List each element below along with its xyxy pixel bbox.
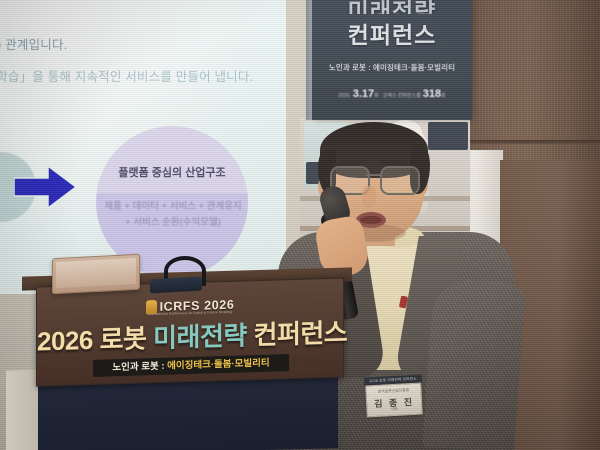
banner-title-line2: 컨퍼런스 bbox=[312, 16, 472, 50]
speaker-mouth-inner bbox=[360, 216, 382, 224]
podium-subtitle-white: 노인과 로봇 : bbox=[112, 361, 167, 374]
banner-venue-suffix: 호 bbox=[441, 93, 446, 99]
right-arrow-icon bbox=[14, 164, 76, 210]
eyeglass-lens-right bbox=[380, 166, 420, 195]
slide-text-line2: AI학습」을 통해 지속적인 서비스를 만들어 냅니다. bbox=[0, 66, 253, 85]
podium-headline-part-0: 2026 로봇 bbox=[37, 323, 153, 356]
banner-meta: 2026. 3.17화 코엑스 컨퍼런스룸 318호 bbox=[312, 88, 472, 100]
tablet-screen[interactable] bbox=[56, 258, 136, 288]
banner-subtitle: 노인과 로봇 : 에이징테크·돌봄·모빌리티 bbox=[312, 62, 472, 73]
podium-sign-board: ICRFS 2026 International Conference on R… bbox=[36, 277, 344, 386]
podium: ICRFS 2026 International Conference on R… bbox=[30, 272, 346, 450]
gooseneck-microphone-base bbox=[150, 277, 202, 294]
slide-circle-sub2: + 서비스 순환(수익모델) bbox=[92, 214, 254, 228]
slide-circle-sub1: 제품 + 데이터 + 서비스 + 관계유지 bbox=[92, 198, 254, 212]
gooseneck-microphone bbox=[150, 262, 204, 292]
banner-venue-label: 코엑스 컨퍼런스룸 bbox=[383, 93, 421, 99]
slide-circle-title: 플랫폼 중심의 산업구조 bbox=[96, 164, 248, 180]
speaker-name-badge: 한국로봇산업진흥원 김 종 진 대표 bbox=[365, 383, 423, 418]
conference-photo: 미래전략 컨퍼런스 노인과 로봇 : 에이징테크·돌봄·모빌리티 2026. 3… bbox=[0, 0, 600, 450]
banner-date-year: 2026. bbox=[338, 93, 351, 99]
podium-headline: 2026 로봇 미래전략 컨퍼런스 bbox=[37, 312, 343, 358]
speaker-nose bbox=[362, 186, 376, 208]
banner-date-day: 3.17 bbox=[353, 88, 374, 100]
speaker-arm-right bbox=[422, 277, 526, 450]
podium-headline-part-1: 미래전략 bbox=[153, 320, 247, 353]
banner-title-line1: 미래전략 bbox=[312, 0, 472, 14]
podium-headline-part-2: 컨퍼런스 bbox=[247, 317, 347, 350]
eyeglass-bridge bbox=[366, 174, 382, 176]
slide-text-line1: n) 관계입니다. bbox=[0, 34, 67, 53]
banner-date-suffix: 화 bbox=[374, 93, 379, 99]
banner-venue-room: 318 bbox=[423, 88, 441, 100]
podium-subtitle-gold: 에이징테크·돌봄·모빌리티 bbox=[167, 358, 269, 372]
tablet-device[interactable] bbox=[52, 254, 140, 295]
podium-side-face bbox=[6, 369, 40, 450]
podium-subtitle: 노인과 로봇 : 에이징테크·돌봄·모빌리티 bbox=[93, 354, 289, 377]
podium-subtitle-bar: 노인과 로봇 : 에이징테크·돌봄·모빌리티 bbox=[93, 354, 289, 377]
